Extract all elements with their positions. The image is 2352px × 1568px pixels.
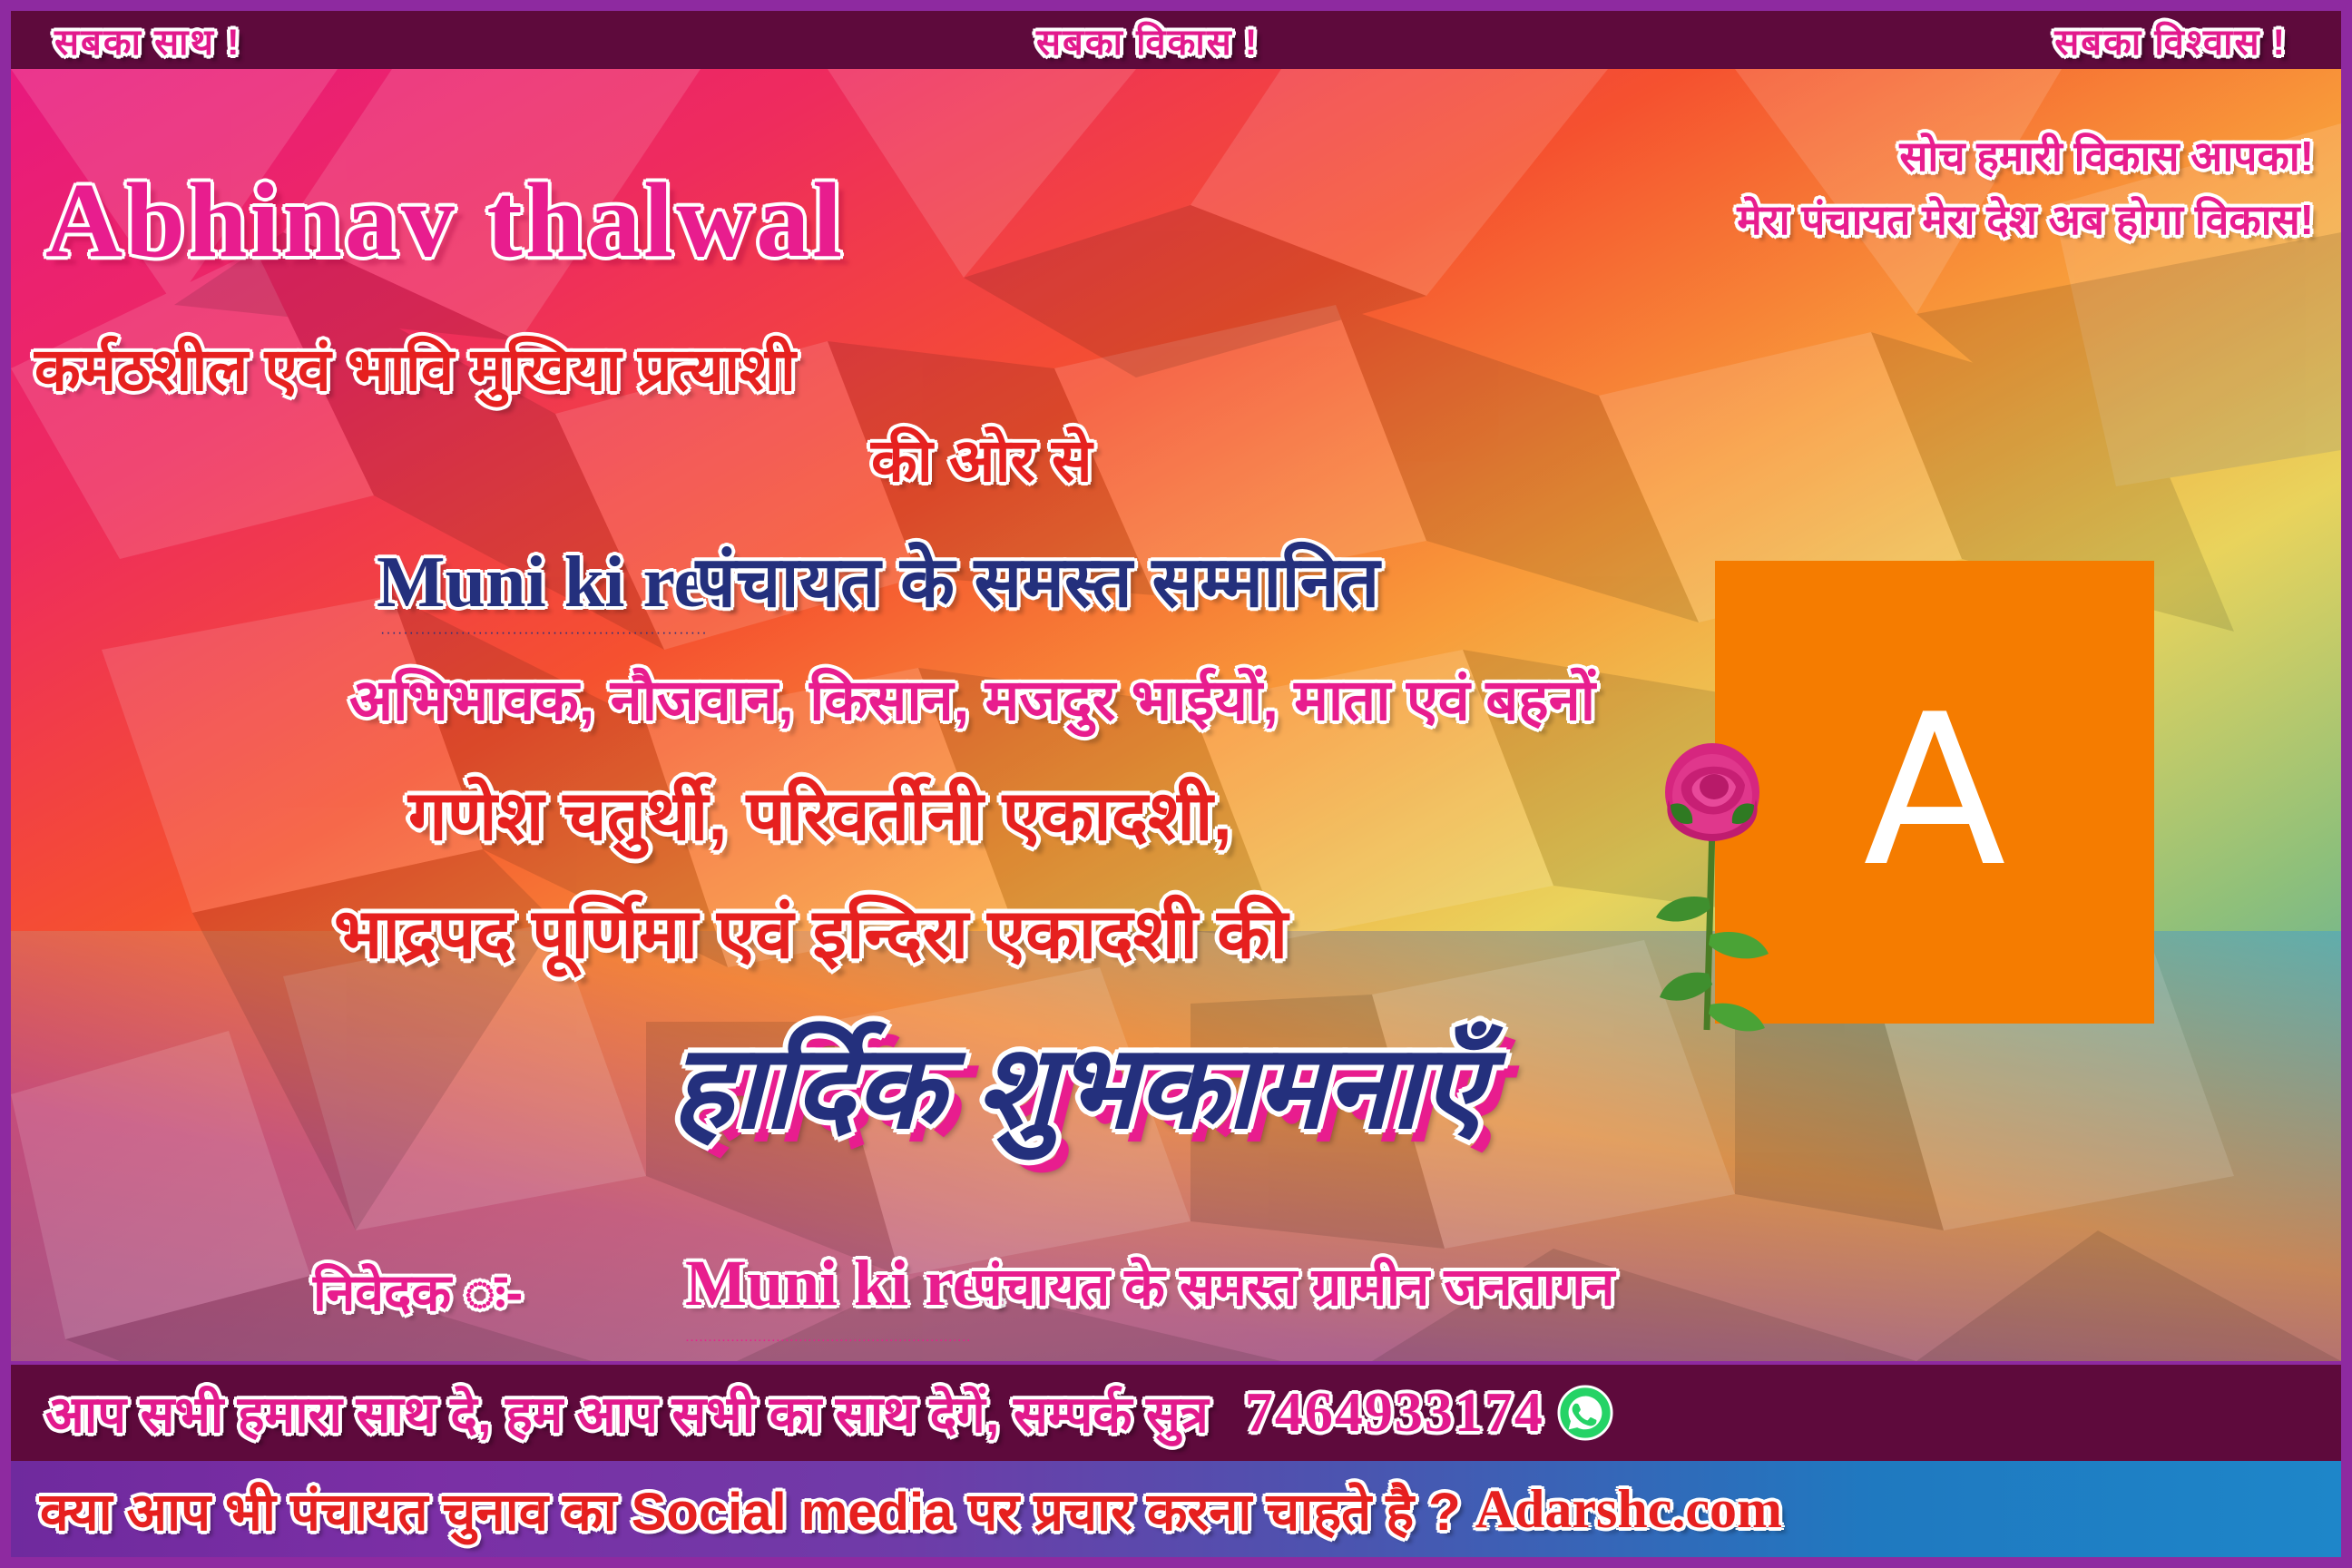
requester-dotted-underline: ········································… [685,1332,1139,1341]
poster-content: Abhinav thalwal कर्मठशील एवं भावि मुखिया… [0,0,2352,1361]
contact-message: आप सभी हमारा साथ दे, हम आप सभी का साथ दे… [45,1378,1209,1447]
slogan-sabka-vishwas: सबका विश्वास ! [2054,15,2287,65]
top-right-slogan-2: मेरा पंचायत मेरा देश अब होगा विकास! [1737,191,2314,247]
top-right-slogan-1: सोच हमारी विकास आपका! [1737,127,2314,183]
requester-label: निवेदक ः- [313,1255,523,1326]
top-right-slogan-block: सोच हमारी विकास आपका! मेरा पंचायत मेरा द… [1737,127,2314,254]
candidate-name: Abhinav thalwal [45,159,845,282]
candidate-tagline-line1: कर्मठशील एवं भावि मुखिया प्रत्याशी [34,327,796,408]
festival-line-2: भाद्रपद पूर्णिमा एवं इन्दिरा एकादशी की [334,885,1288,978]
requester-line: Muni ki retपंचायत के समस्त ग्रामीन जनताग… [685,1246,1614,1321]
election-greeting-poster: सबका साथ ! सबका विकास ! सबका विश्वास ! A… [0,0,2352,1568]
candidate-tagline-line2: की ओर से [871,417,1093,499]
requester-panchayat-english: Muni ki ret [685,1246,1004,1321]
festival-line-1: गणेश चतुर्थी, परिवर्तीनी एकादशी, [408,767,1232,860]
panchayat-name-english: Muni ki ret [377,542,730,624]
panchayat-headline: Muni ki retपंचायत के समस्त सम्मानित ····… [377,531,1379,627]
panchayat-name-dotted-underline: ········································… [380,625,770,634]
requester-panchayat-hindi: पंचायत के समस्त ग्रामीन जनतागन [973,1249,1615,1320]
top-slogan-bar: सबका साथ ! सबका विकास ! सबका विश्वास ! [11,11,2341,69]
slogan-sabka-saath: सबका साथ ! [54,15,240,65]
panchayat-headline-hindi: पंचायत के समस्त सम्मानित [696,531,1380,627]
slogan-sabka-vikas: सबका विकास ! [1036,15,1259,65]
promo-band: क्या आप भी पंचायत चुनाव का Social media … [11,1461,2341,1557]
greeting-headline: हार्दिक शुभकामनाएँ [671,1003,1485,1161]
promo-website-link[interactable]: Adarshc.com [1475,1478,1782,1541]
audience-line: अभिभावक, नौजवान, किसान, मजदुर भाईयों, मा… [349,660,1595,737]
promo-message: क्या आप भी पंचायत चुनाव का Social media … [40,1474,1461,1545]
contact-band: आप सभी हमारा साथ दे, हम आप सभी का साथ दे… [11,1365,2341,1461]
contact-phone-number[interactable]: 7464933174 [1245,1381,1544,1445]
whatsapp-icon[interactable] [1557,1385,1613,1441]
